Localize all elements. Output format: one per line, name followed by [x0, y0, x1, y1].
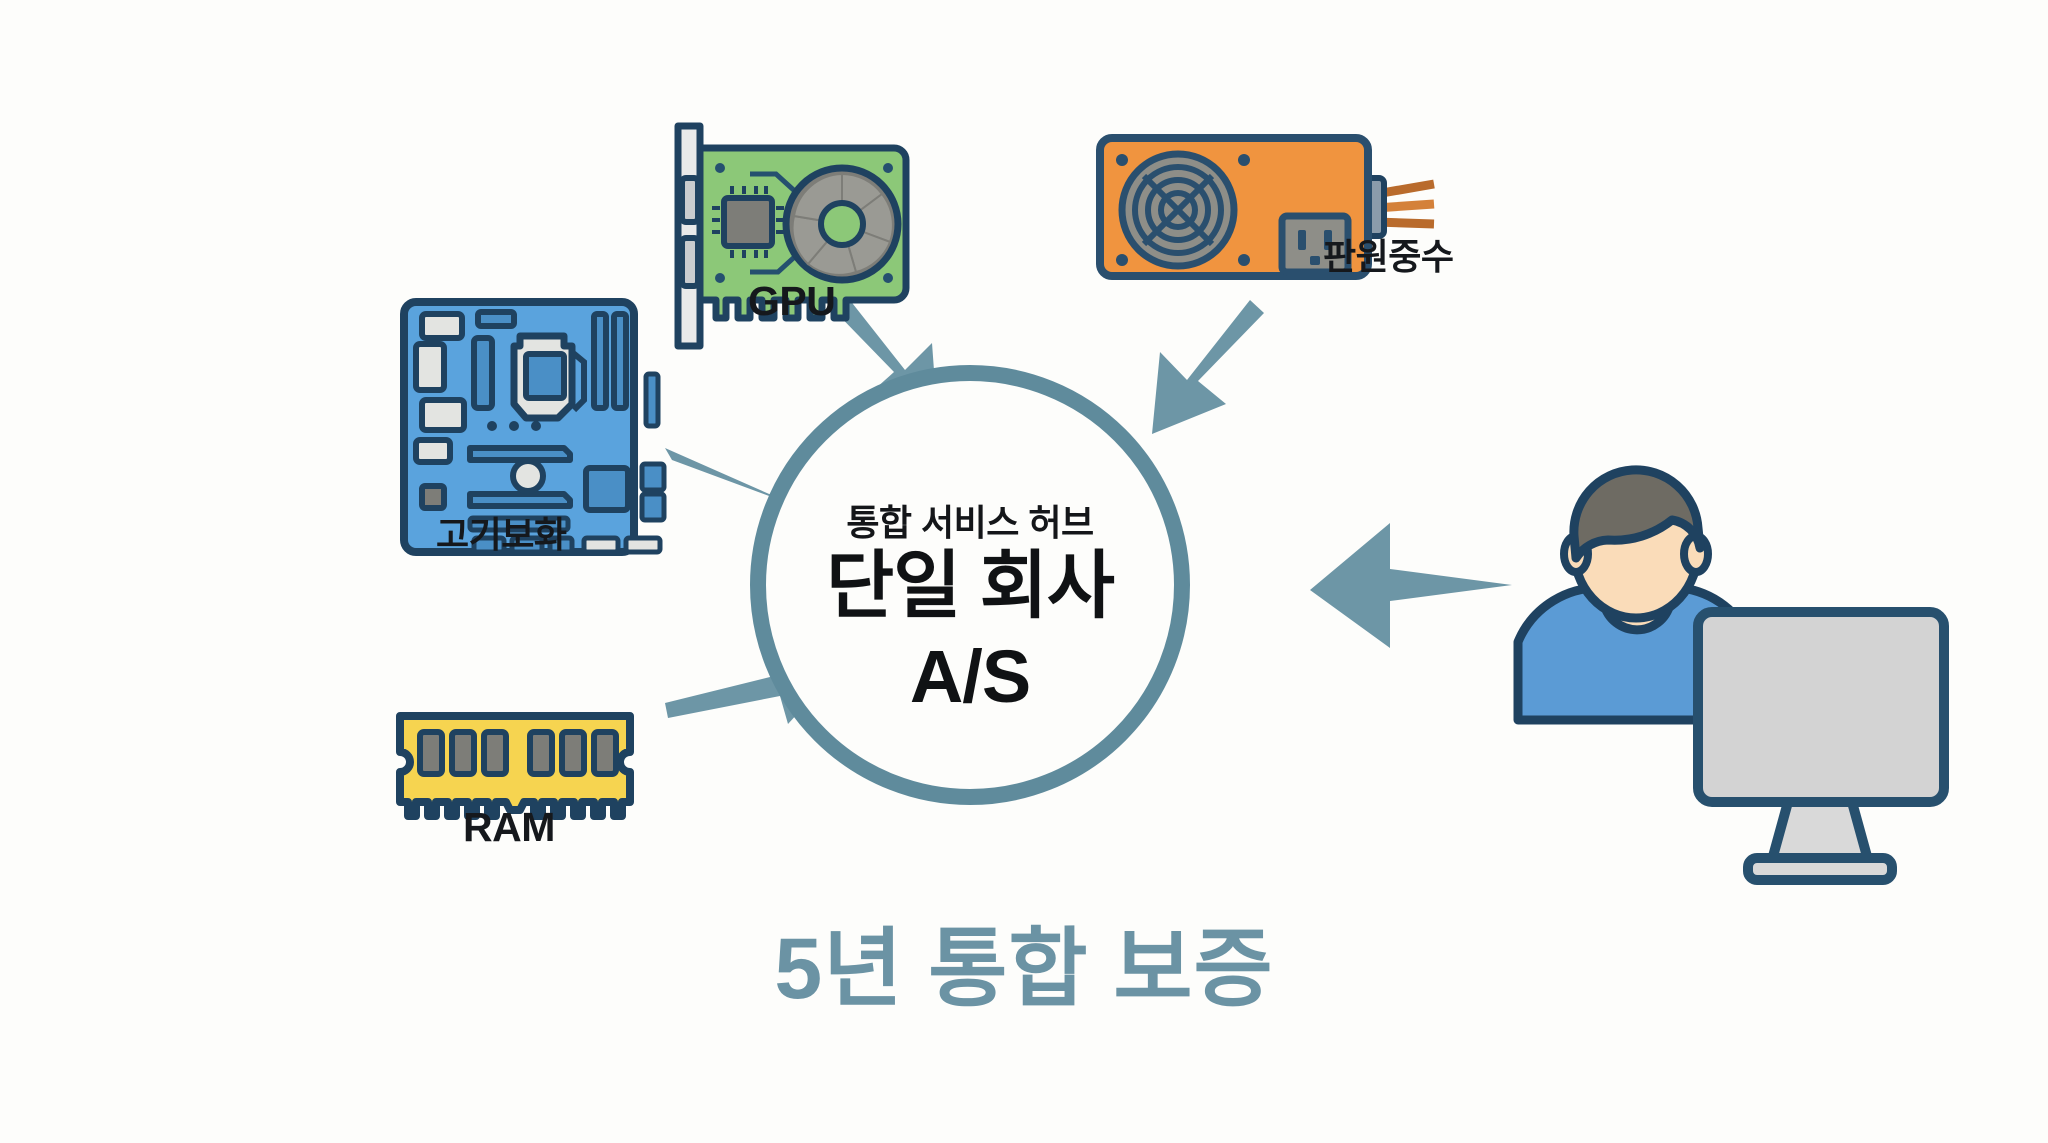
diagram-canvas: GPU 판원중수 고기보화 RAM 통합 서비스 허브 단일 회사 A/S 5년… — [0, 0, 2048, 1143]
label-gpu: GPU — [748, 278, 835, 325]
footer-warranty-text: 5년 통합 보증 — [0, 898, 2048, 1023]
hub-subtitle: 통합 서비스 허브 — [760, 494, 1180, 546]
person-at-computer-icon — [1518, 470, 1944, 880]
hub-title-second-line: A/S — [760, 640, 1180, 714]
hub-title: 단일 회사 — [760, 549, 1180, 623]
ram-stick-icon — [400, 716, 630, 816]
label-ram: RAM — [463, 804, 555, 851]
arrow-psu-to-hub — [1152, 300, 1264, 434]
label-motherboard: 고기보화 — [436, 506, 566, 558]
arrow-customer-to-hub — [1310, 523, 1512, 648]
label-power-supply: 판원중수 — [1323, 228, 1453, 280]
